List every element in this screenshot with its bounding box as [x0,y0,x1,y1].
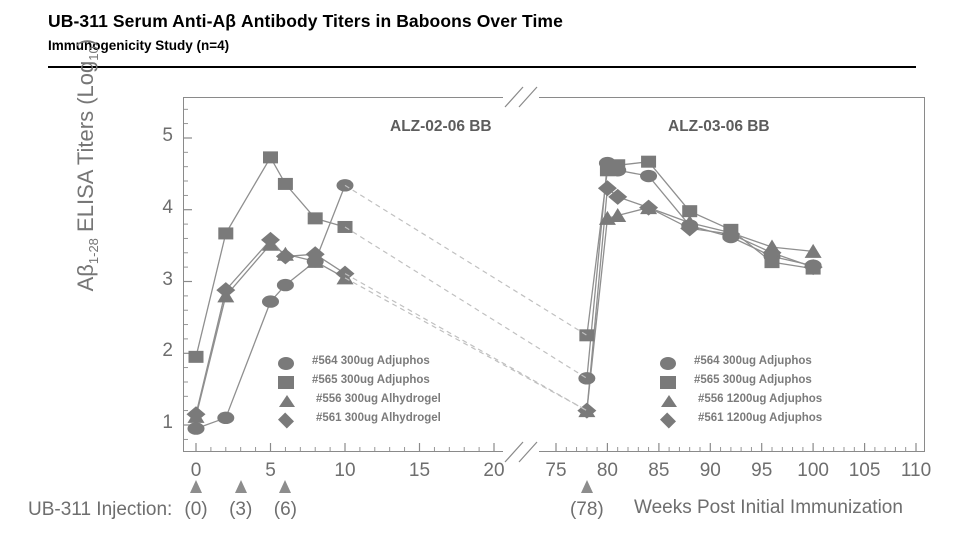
circle-marker-icon [660,357,676,370]
legend-label: #561 1200ug Adjuphos [698,412,822,424]
panel-caption-right: ALZ-03-06 BB [668,118,770,136]
square-marker-icon [660,376,676,389]
y-tick-label: 1 [143,412,173,434]
legend-label: #565 300ug Adjuphos [694,374,812,386]
legend-label: #556 300ug Alhydrogel [316,393,441,405]
x-tick-label: 105 [843,460,887,482]
y-tick-label: 4 [143,197,173,219]
injection-arrow-icon [235,480,247,493]
page-title: UB-311 Serum Anti-Aβ Antibody Titers in … [48,11,563,32]
panel-caption-left: ALZ-02-06 BB [390,118,492,136]
square-marker-icon [278,376,294,389]
x-axis-title: Weeks Post Initial Immunization [634,497,903,519]
legend-label: #565 300ug Adjuphos [312,374,430,386]
legend-label: #564 300ug Adjuphos [694,355,812,367]
x-tick-label: 85 [637,460,681,482]
x-tick-label: 15 [398,460,442,482]
x-tick-label: 20 [472,460,516,482]
x-tick-label: 90 [688,460,732,482]
x-tick-label: 5 [249,460,293,482]
triangle-marker-icon [661,395,677,407]
injection-week-label: (78) [561,499,613,521]
x-tick-label: 95 [740,460,784,482]
injection-arrow-icon [581,480,593,493]
y-tick-label: 2 [143,340,173,362]
x-tick-label: 80 [585,460,629,482]
injection-week-label: (6) [259,499,311,521]
x-tick-label: 75 [534,460,578,482]
y-axis-title-paren: ) [73,39,98,46]
y-axis-title-range: 1-28 [86,238,101,264]
header-divider [48,66,916,68]
injection-arrow-icon [190,480,202,493]
legend-label: #556 1200ug Adjuphos [698,393,822,405]
injection-label: UB-311 Injection: [28,499,172,521]
triangle-marker-icon [279,395,295,407]
chart-page: UB-311 Serum Anti-Aβ Antibody Titers in … [0,0,964,543]
y-axis-title-mid: ELISA Titers (Log [73,61,98,238]
x-tick-label: 10 [323,460,367,482]
x-tick-label: 110 [894,460,938,482]
x-tick-label: 0 [174,460,218,482]
x-tick-label: 100 [791,460,835,482]
y-tick-label: 3 [143,269,173,291]
circle-marker-icon [278,357,294,370]
y-axis-title-beta: Aβ [73,264,98,291]
legend-label: #561 300ug Alhydrogel [316,412,441,424]
y-axis-title-log: 10 [86,46,101,60]
legend-label: #564 300ug Adjuphos [312,355,430,367]
injection-arrow-icon [279,480,291,493]
y-axis-title: Aβ1-28 ELISA Titers (Log10) [73,20,101,310]
y-tick-label: 5 [143,125,173,147]
